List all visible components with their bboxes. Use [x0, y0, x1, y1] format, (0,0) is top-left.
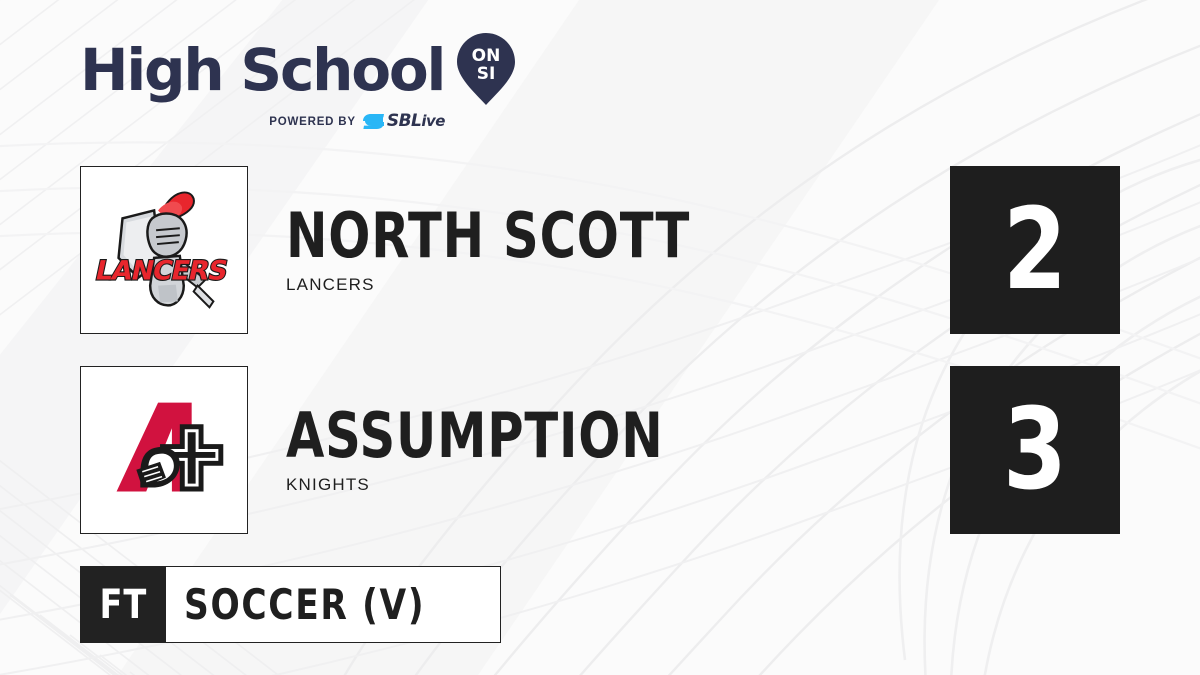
assumption-knights-logo [81, 367, 247, 533]
sport-label: SOCCER (V) [184, 584, 425, 626]
team-score-box: 2 [950, 166, 1120, 334]
powered-by-row: POWERED BY SBLive [198, 113, 516, 130]
team-score-box: 3 [950, 366, 1120, 534]
sblive-logo: SBLive [363, 113, 445, 130]
team-logo-box [80, 366, 248, 534]
pin-top-label: ON [472, 46, 501, 66]
team-logo-box: LANCERS [80, 166, 248, 334]
powered-by-label: POWERED BY [269, 116, 356, 128]
game-status-badge: FT [80, 566, 166, 643]
team-name: ASSUMPTION [286, 406, 664, 466]
sblive-word-main: SBL [387, 111, 422, 131]
team-mascot: KNIGHTS [286, 475, 758, 495]
team-name: NORTH SCOTT [286, 206, 690, 266]
team-row: ASSUMPTION KNIGHTS 3 [0, 366, 1200, 534]
game-status-code: FT [99, 585, 147, 625]
north-scott-lancers-logo: LANCERS [81, 167, 247, 333]
pin-bottom-label: SI [477, 64, 496, 84]
sblive-wordmark: SBLive [387, 113, 445, 130]
game-status-bar: FT SOCCER (V) [80, 566, 501, 643]
team-score: 2 [1003, 194, 1067, 306]
team-info: ASSUMPTION KNIGHTS [286, 366, 758, 534]
team-row: LANCERS NORTH SCOTT LANCERS 2 [0, 166, 1200, 334]
sport-label-panel: SOCCER (V) [166, 566, 501, 643]
on-si-pin-icon: ON SI [456, 32, 516, 106]
team-score: 3 [1003, 394, 1067, 506]
brand-header: High School ON SI POWERED BY SBLive [80, 34, 516, 130]
sblive-s-mark-icon [363, 113, 385, 130]
logo-wordmark: LANCERS [93, 256, 230, 287]
team-mascot: LANCERS [286, 275, 791, 295]
sblive-word-suffix: ive [421, 112, 445, 130]
site-title: High School [80, 41, 444, 99]
brand-row: High School ON SI [80, 34, 516, 106]
team-info: NORTH SCOTT LANCERS [286, 166, 791, 334]
